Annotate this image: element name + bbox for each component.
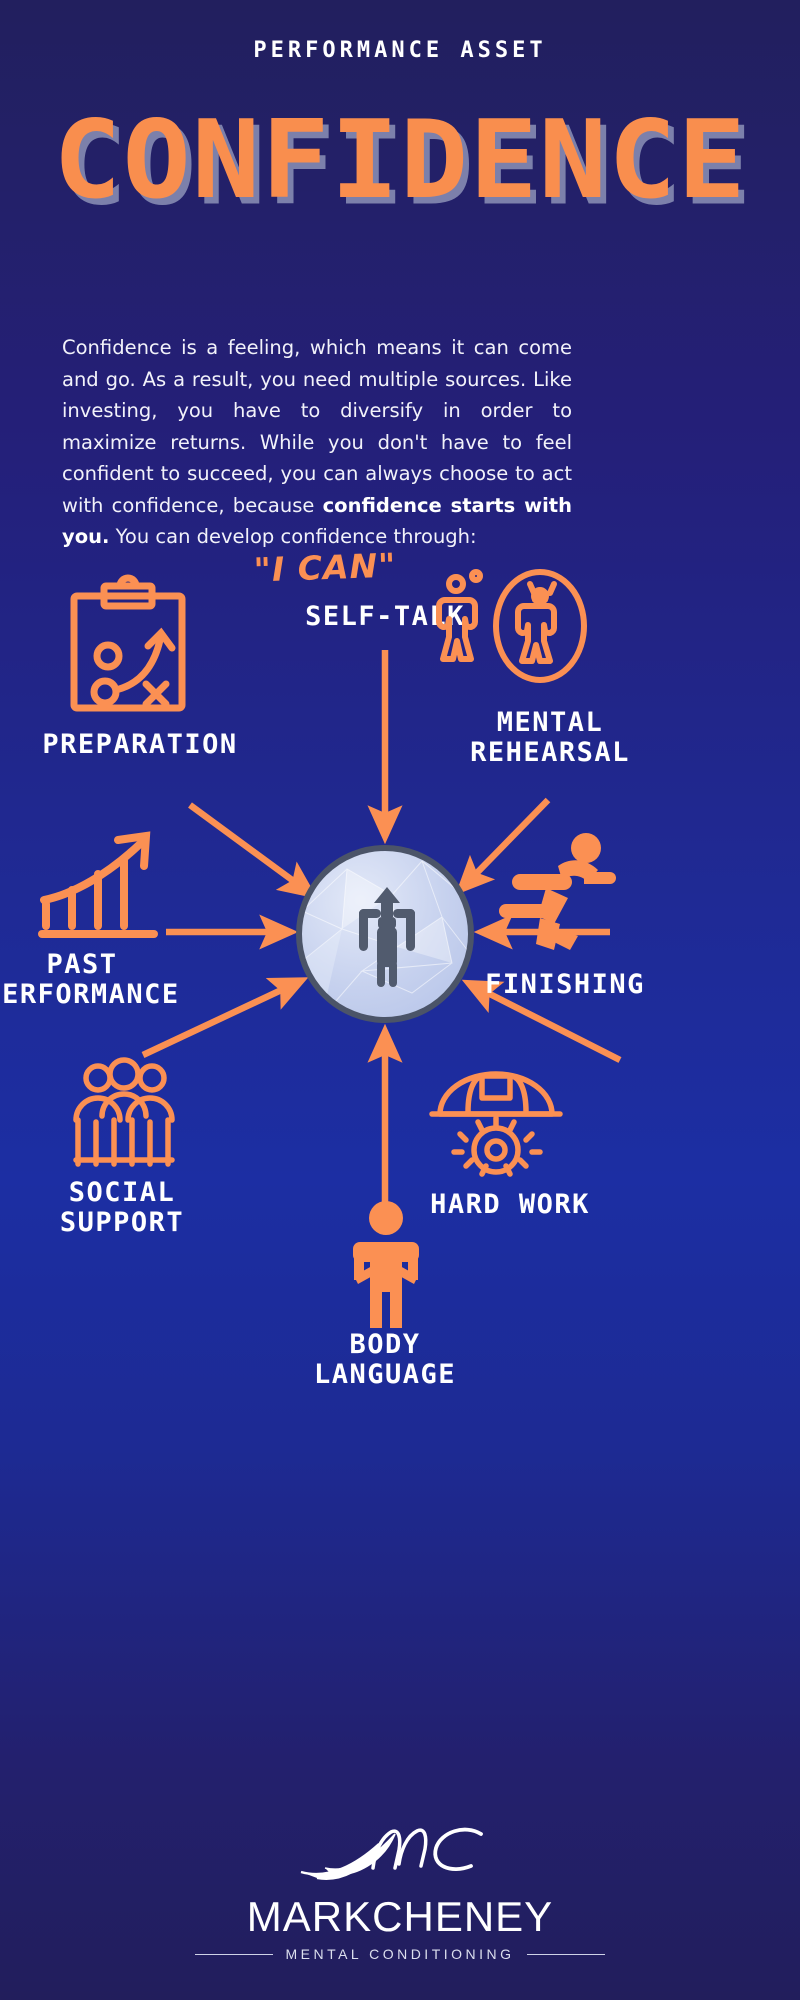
node-label-preparation: PREPARATION bbox=[0, 730, 290, 760]
group-people-icon bbox=[58, 1060, 188, 1170]
hardhat-gear-icon bbox=[430, 1062, 565, 1177]
growth-chart-icon bbox=[40, 830, 165, 945]
runner-finish-icon bbox=[500, 830, 615, 950]
node-label-finishing: FINISHING bbox=[415, 970, 715, 1000]
footer-branding: MARKCHENEY MENTAL CONDITIONING bbox=[0, 1820, 800, 1962]
standing-person-icon bbox=[340, 1200, 432, 1330]
brand-tagline-row: MENTAL CONDITIONING bbox=[0, 1946, 800, 1962]
node-label-past-performance: PAST PERFORMANCE bbox=[0, 950, 232, 1010]
page-title-wrap: CONFIDENCE bbox=[0, 110, 800, 220]
node-label-social-support: SOCIAL SUPPORT bbox=[0, 1178, 272, 1238]
mc-wave-logo-icon bbox=[295, 1820, 505, 1890]
arrow-preparation bbox=[190, 805, 303, 888]
brand-name-last: CHENEY bbox=[372, 1893, 553, 1940]
brand-name-first: MARK bbox=[247, 1893, 372, 1940]
rule-right bbox=[527, 1954, 605, 1955]
page-title: CONFIDENCE bbox=[53, 104, 747, 216]
confidence-sources-diagram: "I CAN" SELF-TALK PREPARATION bbox=[0, 630, 800, 1810]
intro-paragraph: Confidence is a feeling, which means it … bbox=[62, 332, 572, 553]
brand-name: MARKCHENEY bbox=[0, 1894, 800, 1940]
brand-tagline: MENTAL CONDITIONING bbox=[285, 1946, 514, 1962]
node-label-mental-rehearsal: MENTAL REHEARSAL bbox=[400, 708, 700, 768]
clipboard-playbook-icon bbox=[68, 580, 188, 715]
infographic-page: PERFORMANCE ASSET CONFIDENCE Confidence … bbox=[0, 0, 800, 2000]
visualization-people-icon bbox=[432, 570, 592, 700]
i-can-callout: "I CAN" bbox=[214, 544, 435, 591]
rule-left bbox=[195, 1954, 273, 1955]
page-kicker: PERFORMANCE ASSET bbox=[0, 38, 800, 63]
paragraph-text-1: Confidence is a feeling, which means it … bbox=[62, 336, 572, 517]
node-label-body-language: BODY LANGUAGE bbox=[235, 1330, 535, 1390]
